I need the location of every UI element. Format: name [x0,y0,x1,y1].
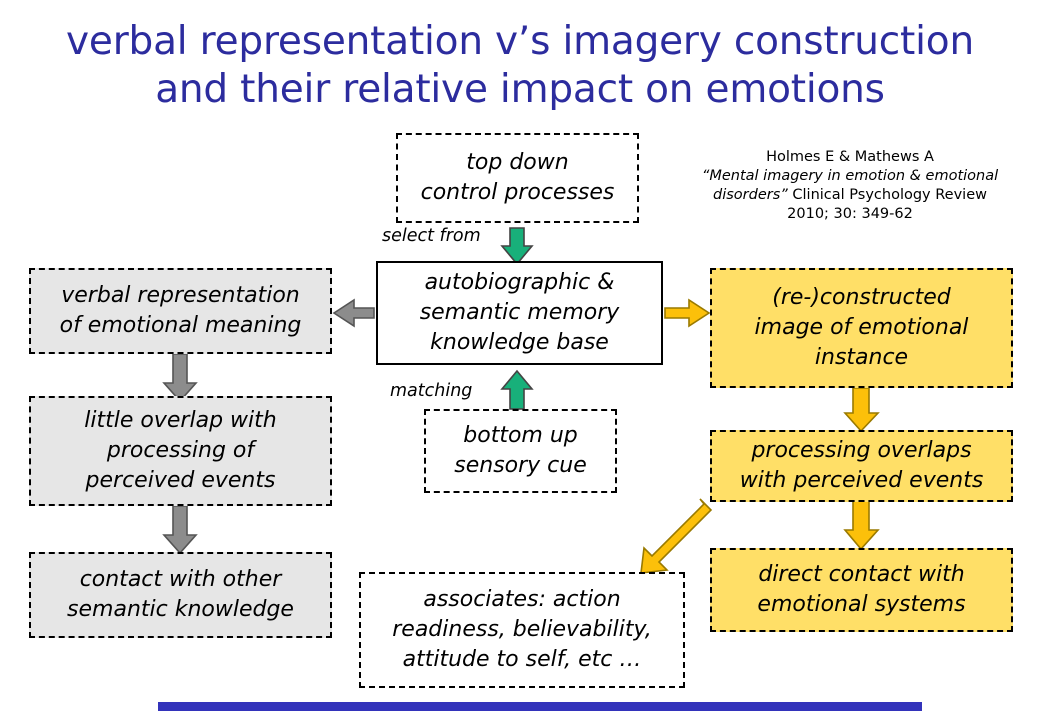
box-contact-other-line-1: contact with other [67,565,294,595]
slide-canvas: verbal representation v’s imagery constr… [0,0,1040,720]
citation-block: Holmes E & Mathews A “Mental imagery in … [672,148,1028,224]
box-associates[interactable]: associates: action readiness, believabil… [359,572,685,688]
box-memory-line-2: semantic memory [420,298,620,328]
box-reconstructed-line-1: (re-)constructed [755,283,969,313]
box-top-down-line-2: control processes [421,178,615,208]
box-direct-contact-line-1: direct contact with [757,560,965,590]
box-bottom-up-line-2: sensory cue [454,451,587,481]
box-reconstructed-image[interactable]: (re-)constructed image of emotional inst… [710,268,1013,388]
box-little-overlap-line-1: little overlap with [84,406,276,436]
box-little-overlap[interactable]: little overlap with processing of percei… [29,396,332,506]
box-processing-overlaps[interactable]: processing overlaps with perceived event… [710,430,1013,502]
page-title: verbal representation v’s imagery constr… [0,18,1040,114]
box-contact-other-semantic[interactable]: contact with other semantic knowledge [29,552,332,638]
box-processing-overlaps-line-2: with perceived events [740,466,984,496]
box-processing-overlaps-line-1: processing overlaps [740,436,984,466]
title-line-1: verbal representation v’s imagery constr… [0,18,1040,66]
arrow-processing-to-associates [641,499,711,573]
arrow-top-down-to-memory [502,228,532,264]
box-memory-knowledge-base[interactable]: autobiographic & semantic memory knowled… [376,261,663,365]
box-verbal-representation[interactable]: verbal representation of emotional meani… [29,268,332,354]
box-memory-line-1: autobiographic & [420,268,620,298]
arrow-processing-to-direct [845,500,878,549]
box-contact-other-line-2: semantic knowledge [67,595,294,625]
box-associates-line-2: readiness, believability, [392,615,652,645]
box-associates-line-3: attitude to self, etc … [392,645,652,675]
citation-journal: Clinical Psychology Review [792,187,987,203]
arrow-verbal-to-overlap [164,354,196,401]
title-line-2: and their relative impact on emotions [0,66,1040,114]
arrow-bottom-up-to-memory [502,371,532,409]
box-memory-line-3: knowledge base [420,328,620,358]
box-little-overlap-line-2: processing of [84,436,276,466]
box-top-down-control-processes[interactable]: top down control processes [396,133,639,223]
box-direct-contact-emotional[interactable]: direct contact with emotional systems [710,548,1013,632]
box-direct-contact-line-2: emotional systems [757,590,965,620]
arrow-memory-to-verbal [334,300,374,326]
box-associates-line-1: associates: action [392,585,652,615]
label-select-from: select from [382,226,481,246]
box-reconstructed-line-3: instance [755,343,969,373]
box-little-overlap-line-3: perceived events [84,466,276,496]
arrow-image-to-processing [845,388,878,431]
box-bottom-up-sensory-cue[interactable]: bottom up sensory cue [424,409,617,493]
citation-authors: Holmes E & Mathews A [672,148,1028,167]
bottom-rule [158,702,922,711]
box-verbal-line-1: verbal representation [60,281,302,311]
box-verbal-line-2: of emotional meaning [60,311,302,341]
box-reconstructed-line-2: image of emotional [755,313,969,343]
arrow-memory-to-image [665,300,709,326]
citation-issue: 2010; 30: 349-62 [672,205,1028,224]
label-matching: matching [390,381,472,401]
box-bottom-up-line-1: bottom up [454,421,587,451]
box-top-down-line-1: top down [421,148,615,178]
arrow-overlap-to-contact [164,506,196,553]
